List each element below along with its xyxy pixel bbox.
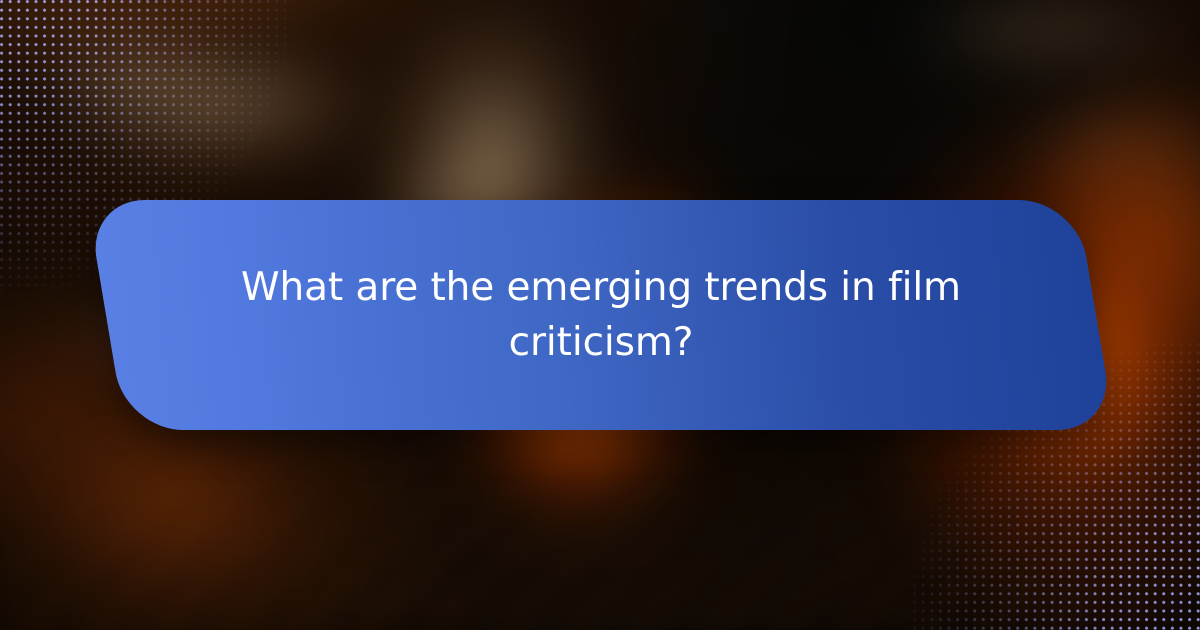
question-text: What are the emerging trends in film cri… (236, 260, 966, 371)
share-card-canvas: What are the emerging trends in film cri… (0, 0, 1200, 630)
question-card-content: What are the emerging trends in film cri… (106, 200, 1096, 430)
question-card: What are the emerging trends in film cri… (106, 200, 1096, 430)
